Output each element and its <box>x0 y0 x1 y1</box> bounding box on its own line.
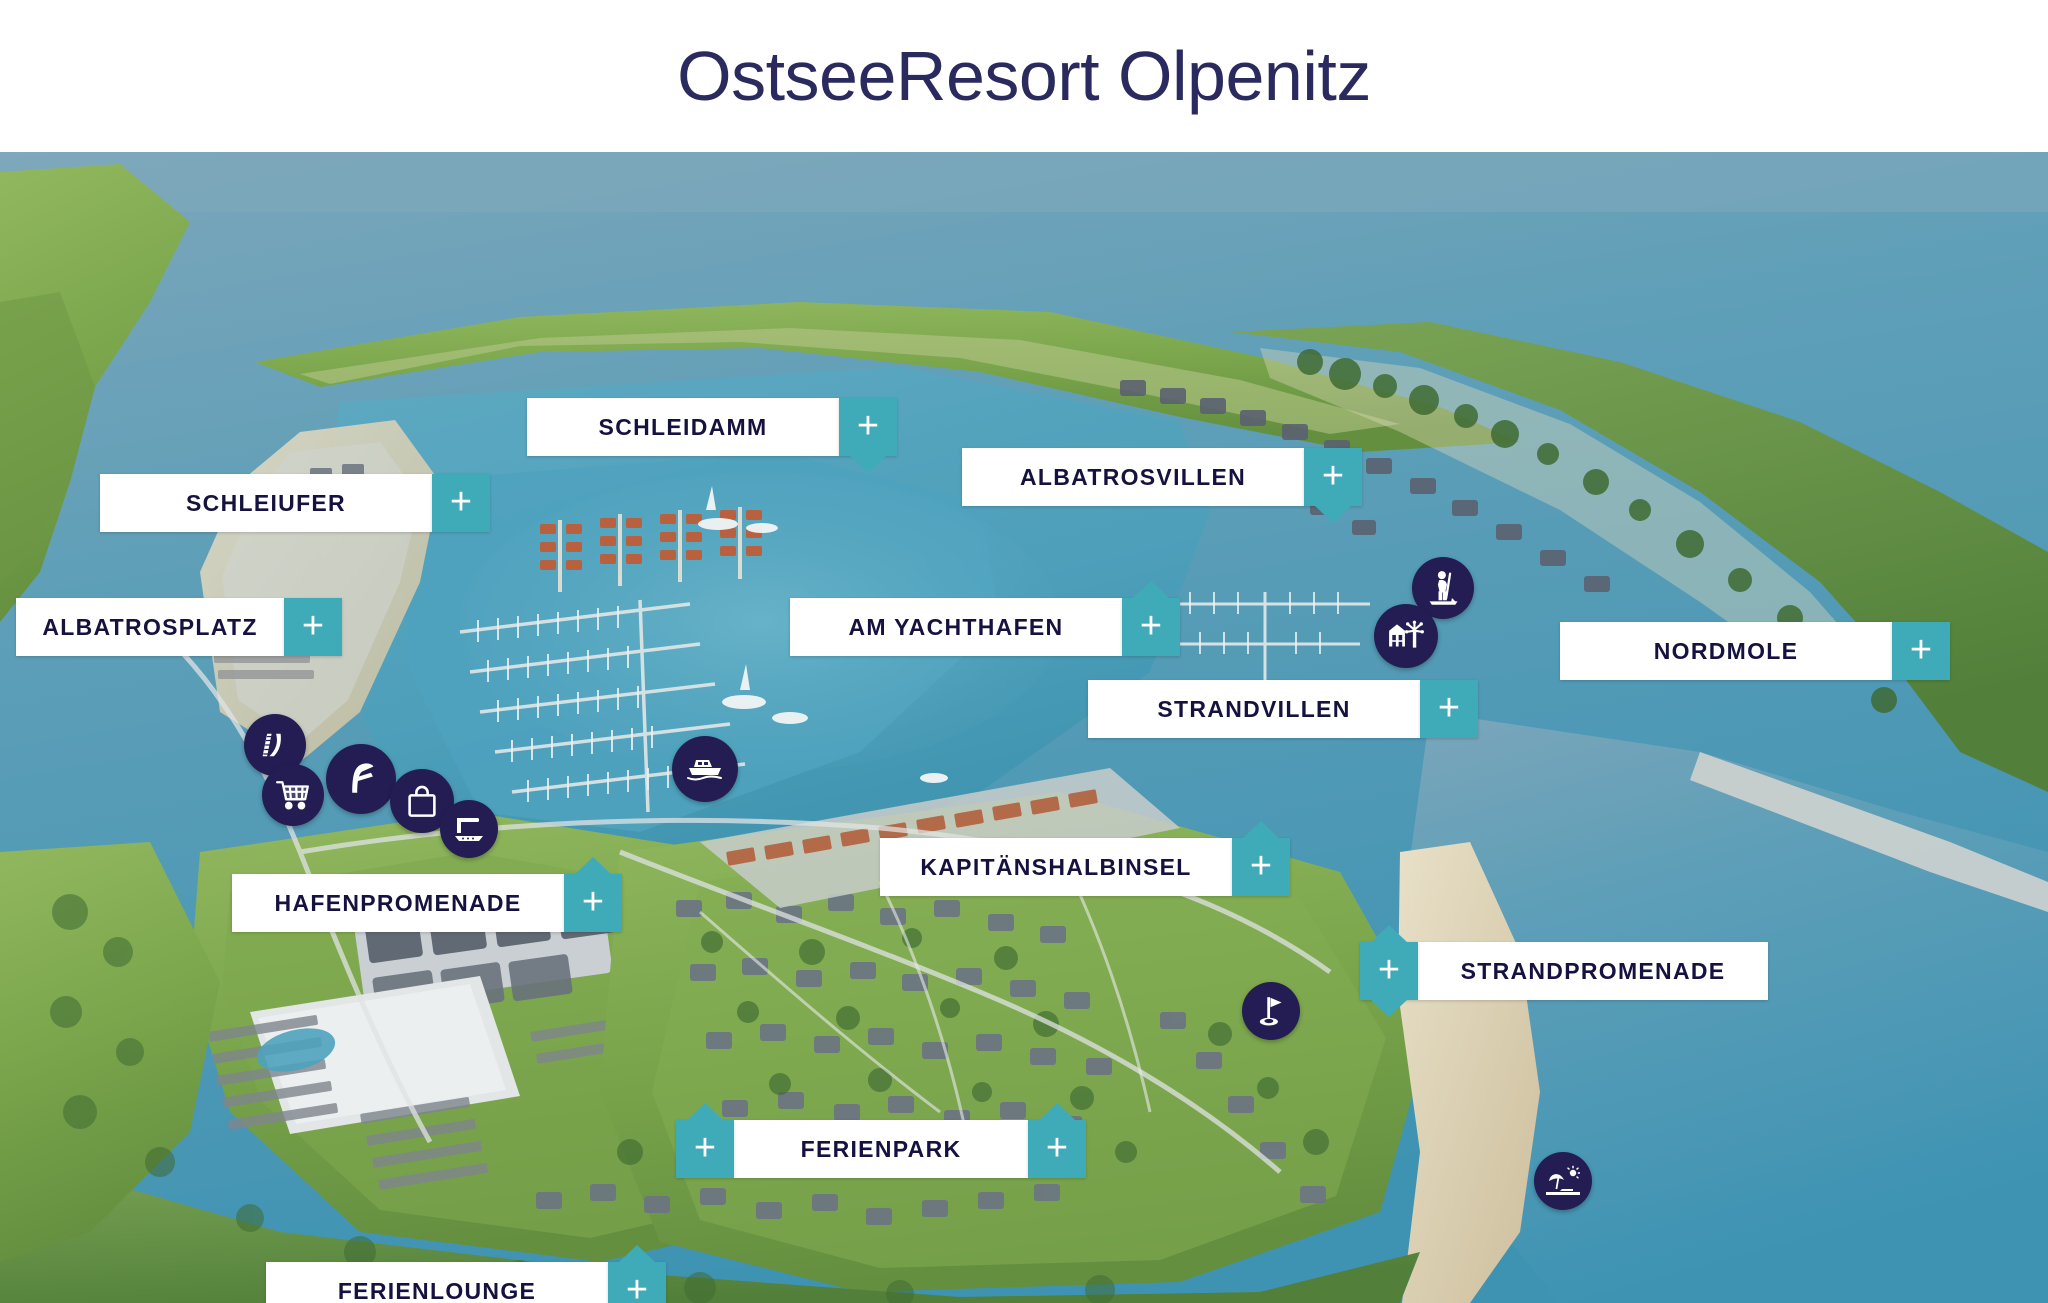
page-header: OstseeResort Olpenitz <box>0 0 2048 152</box>
hotspot-label: SCHLEIDAMM <box>527 398 839 456</box>
expand-button-nordmole[interactable]: + <box>1892 622 1950 680</box>
golf-flag-icon <box>1255 994 1287 1028</box>
expand-button-strandvillen[interactable]: + <box>1420 680 1478 738</box>
expand-button-kapitaenshalbinsel[interactable]: + <box>1232 838 1290 896</box>
water-slide-icon <box>257 727 293 763</box>
expand-button-schleiufer[interactable]: + <box>432 474 490 532</box>
expand-button-ferienlounge[interactable]: + <box>608 1262 666 1303</box>
expand-button-albatrosplatz[interactable]: + <box>284 598 342 656</box>
hotspot-label: AM YACHTHAFEN <box>790 598 1122 656</box>
plus-icon: + <box>1140 607 1162 645</box>
poi-brand-marker[interactable]: Marke <box>326 744 396 814</box>
hotspot-schleiufer[interactable]: SCHLEIUFER + <box>100 474 490 532</box>
poi-shopping-marker[interactable]: Einkaufen <box>262 764 324 826</box>
hotspot-nordmole[interactable]: NORDMOLE + <box>1560 622 1950 680</box>
hotspot-label: STRANDVILLEN <box>1088 680 1420 738</box>
hotspot-label: ALBATROSPLATZ <box>16 598 284 656</box>
hotspot-albatrosplatz[interactable]: ALBATROSPLATZ + <box>16 598 342 656</box>
plus-icon: + <box>1322 457 1344 495</box>
hotspot-hafenpromenade[interactable]: HAFENPROMENADE + <box>232 874 622 932</box>
expand-button-strandpromenade[interactable]: + <box>1360 942 1418 1000</box>
hotspot-label: HAFENPROMENADE <box>232 874 564 932</box>
resort-map-page: OstseeResort Olpenitz <box>0 0 2048 1303</box>
leisure-park-icon <box>1387 618 1425 654</box>
paddleboard-icon <box>1425 569 1461 607</box>
plus-icon: + <box>857 407 879 445</box>
expand-button-ferienpark-left[interactable]: + <box>676 1120 734 1178</box>
boat-slipway-icon <box>452 814 486 844</box>
hotspot-label: STRANDPROMENADE <box>1418 942 1768 1000</box>
plus-icon: + <box>1046 1129 1068 1167</box>
plus-icon: + <box>1250 847 1272 885</box>
plus-icon: + <box>302 607 324 645</box>
brand-f-icon <box>341 759 381 799</box>
plus-icon: + <box>694 1129 716 1167</box>
poi-beach-marker[interactable]: Strand <box>1534 1152 1592 1210</box>
plus-icon: + <box>1378 951 1400 989</box>
beach-umbrella-icon <box>1546 1165 1580 1197</box>
expand-button-am-yachthafen[interactable]: + <box>1122 598 1180 656</box>
hotspot-label: KAPITÄNSHALBINSEL <box>880 838 1232 896</box>
hotspot-kapitaenshalbinsel[interactable]: KAPITÄNSHALBINSEL + <box>880 838 1290 896</box>
hotspot-ferienpark[interactable]: + FERIENPARK + <box>676 1120 1086 1178</box>
page-title: OstseeResort Olpenitz <box>677 36 1371 116</box>
hotspot-label: FERIENLOUNGE <box>266 1262 608 1303</box>
hotspot-schleidamm[interactable]: SCHLEIDAMM + <box>527 398 897 456</box>
hotspot-am-yachthafen[interactable]: AM YACHTHAFEN + <box>790 598 1180 656</box>
poi-slipway-marker[interactable]: Slipanlage <box>440 800 498 858</box>
hotspot-albatrosvillen[interactable]: ALBATROSVILLEN + <box>962 448 1362 506</box>
poi-leisure-marker[interactable]: Freizeit <box>1374 604 1438 668</box>
hotspot-label: SCHLEIUFER <box>100 474 432 532</box>
expand-button-albatrosvillen[interactable]: + <box>1304 448 1362 506</box>
plus-icon: + <box>582 883 604 921</box>
plus-icon: + <box>1438 689 1460 727</box>
expand-button-ferienpark-right[interactable]: + <box>1028 1120 1086 1178</box>
hotspot-label: ALBATROSVILLEN <box>962 448 1304 506</box>
plus-icon: + <box>450 483 472 521</box>
hotspot-strandvillen[interactable]: STRANDVILLEN + <box>1088 680 1478 738</box>
motorboat-icon <box>685 754 725 784</box>
poi-golf-marker[interactable]: Golf <box>1242 982 1300 1040</box>
hotspot-label: NORDMOLE <box>1560 622 1892 680</box>
plus-icon: + <box>1910 631 1932 669</box>
plus-icon: + <box>626 1271 648 1303</box>
shopping-cart-icon <box>275 778 311 812</box>
resort-map[interactable]: Wasserrutsche Einkaufen <box>0 152 2048 1303</box>
hotspot-ferienlounge[interactable]: FERIENLOUNGE + <box>266 1262 666 1303</box>
poi-motorboat-marker[interactable]: Motorboothafen <box>672 736 738 802</box>
hotspot-strandpromenade[interactable]: + STRANDPROMENADE <box>1360 942 1768 1000</box>
shopping-bag-icon <box>405 783 439 819</box>
expand-button-schleidamm[interactable]: + <box>839 398 897 456</box>
hotspot-label: FERIENPARK <box>734 1120 1028 1178</box>
expand-button-hafenpromenade[interactable]: + <box>564 874 622 932</box>
